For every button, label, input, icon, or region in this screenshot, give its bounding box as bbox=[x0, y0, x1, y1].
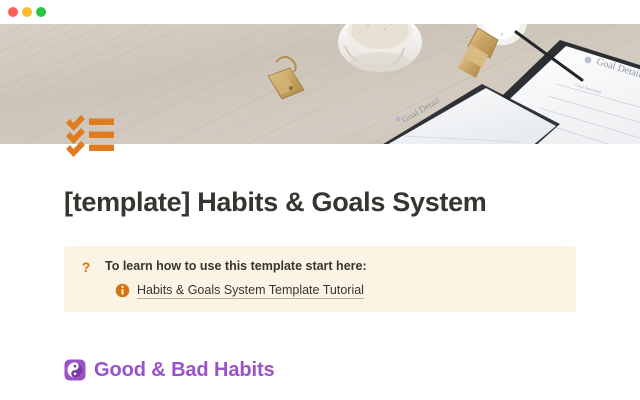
tutorial-callout[interactable]: ? To learn how to use this template star… bbox=[64, 246, 576, 312]
tutorial-page-link[interactable]: Habits & Goals System Template Tutorial bbox=[115, 282, 562, 299]
close-button[interactable] bbox=[8, 7, 18, 17]
minimize-button[interactable] bbox=[22, 7, 32, 17]
maximize-button[interactable] bbox=[36, 7, 46, 17]
info-circle-icon bbox=[115, 283, 130, 298]
question-mark-icon: ? bbox=[77, 258, 95, 275]
window-titlebar bbox=[0, 0, 640, 24]
tutorial-callout-title: To learn how to use this template start … bbox=[105, 258, 562, 275]
tutorial-callout-body: To learn how to use this template start … bbox=[105, 258, 562, 299]
yin-yang-icon bbox=[64, 359, 86, 381]
notion-page-window: Goal Detail Goal Summary Goal Detail bbox=[0, 0, 640, 400]
section-title: Good & Bad Habits bbox=[94, 358, 275, 382]
orange-checklist-icon bbox=[64, 114, 116, 158]
page-icon[interactable] bbox=[64, 114, 116, 158]
page-content: [template] Habits & Goals System ? To le… bbox=[0, 144, 640, 400]
section-heading-good-bad-habits[interactable]: Good & Bad Habits bbox=[64, 358, 576, 382]
page-title[interactable]: [template] Habits & Goals System bbox=[64, 186, 576, 218]
tutorial-page-link-label[interactable]: Habits & Goals System Template Tutorial bbox=[137, 282, 364, 299]
